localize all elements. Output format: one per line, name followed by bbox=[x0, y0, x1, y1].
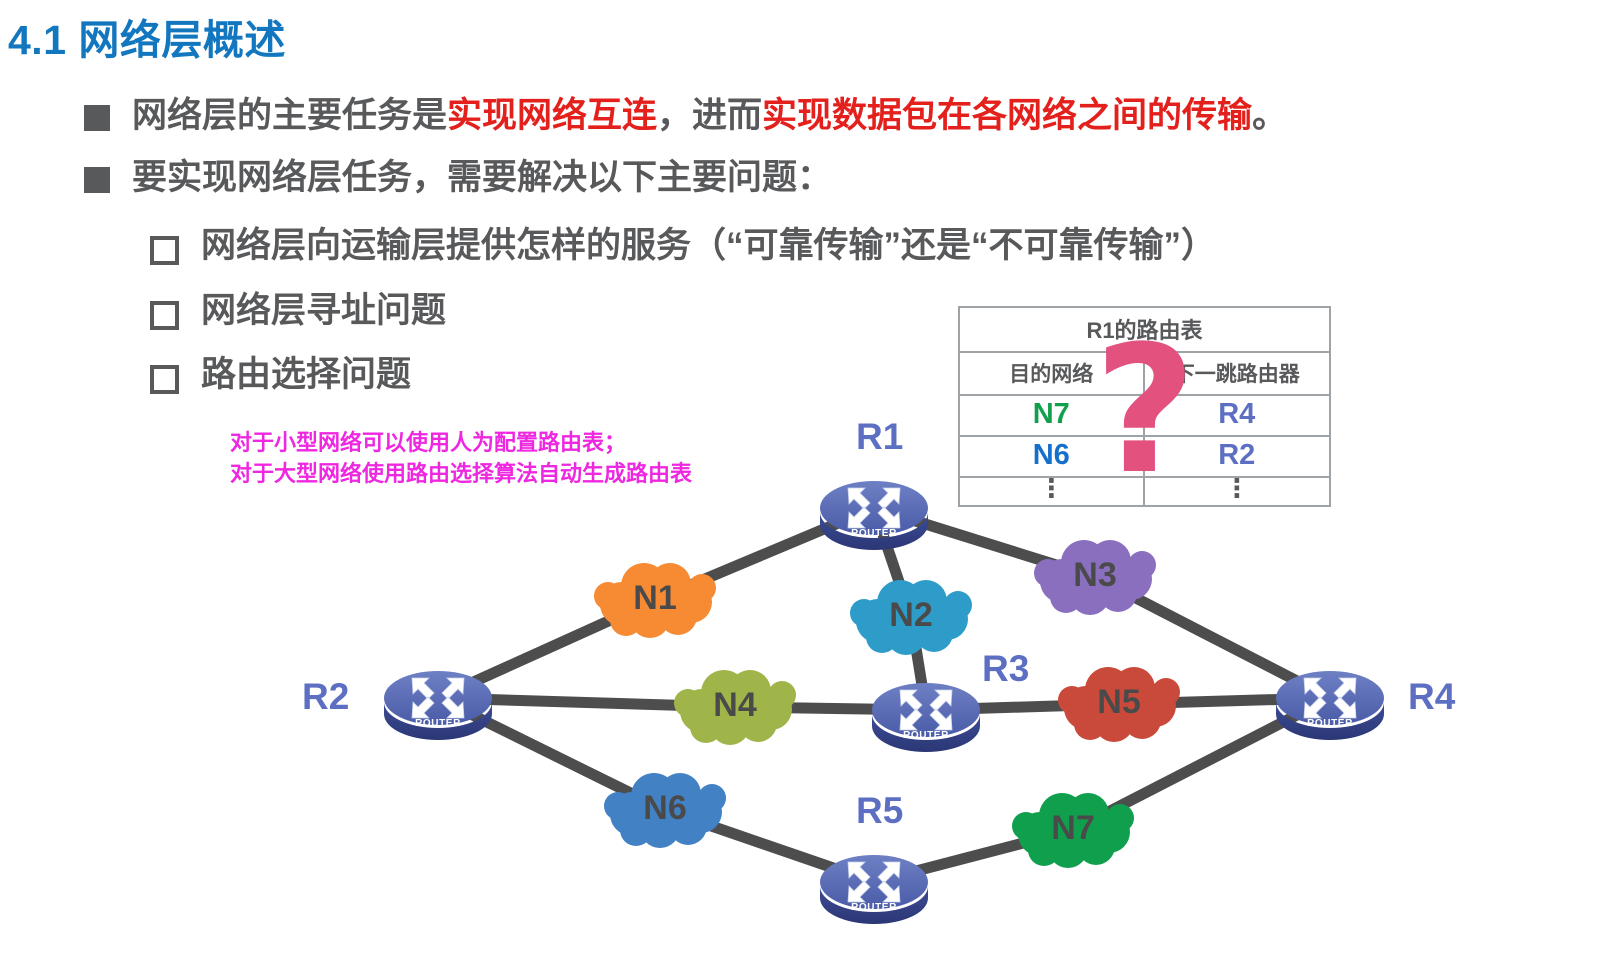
router-label-r5: R5 bbox=[856, 790, 903, 832]
bullet-1-seg-2: ，进而 bbox=[657, 96, 762, 135]
network-label-n3: N3 bbox=[1032, 535, 1158, 615]
bullet-item-4: 网络层寻址问题 bbox=[150, 291, 446, 330]
router-label-r1: R1 bbox=[856, 416, 903, 458]
hollow-square-bullet-icon bbox=[150, 236, 179, 265]
network-topology-diagram: ROUTER R1 ROUTER R2 RO bbox=[0, 400, 1611, 957]
router-icon: ROUTER bbox=[818, 468, 930, 546]
bullet-item-2: 要实现网络层任务，需要解决以下主要问题： bbox=[84, 158, 832, 197]
router-icon: ROUTER bbox=[382, 658, 494, 736]
network-label-n2: N2 bbox=[848, 575, 974, 655]
filled-square-bullet-icon bbox=[84, 167, 110, 193]
router-label-r4: R4 bbox=[1408, 676, 1455, 718]
router-node-r1: ROUTER R1 bbox=[818, 468, 930, 550]
bullet-item-3: 网络层向运输层提供怎样的服务（“可靠传输”还是“不可靠传输”） bbox=[150, 226, 1216, 265]
bullet-item-5-text: 路由选择问题 bbox=[201, 355, 411, 394]
network-cloud-n1: N1 bbox=[592, 558, 718, 638]
routing-table-title-row: R1的路由表 bbox=[960, 308, 1329, 353]
bullet-item-1: 网络层的主要任务是实现网络互连，进而实现数据包在各网络之间的传输。 bbox=[84, 96, 1287, 135]
svg-text:ROUTER: ROUTER bbox=[903, 730, 949, 741]
router-node-r4: ROUTER R4 bbox=[1274, 658, 1386, 740]
bullet-1-seg-3: 实现数据包在各网络之间的传输 bbox=[762, 96, 1252, 135]
network-cloud-n6: N6 bbox=[602, 768, 728, 848]
network-cloud-n3: N3 bbox=[1032, 535, 1158, 615]
svg-text:ROUTER: ROUTER bbox=[851, 528, 897, 539]
bullet-item-5: 路由选择问题 bbox=[150, 355, 411, 394]
svg-text:ROUTER: ROUTER bbox=[415, 718, 461, 729]
router-node-r2: ROUTER R2 bbox=[382, 658, 494, 740]
router-icon: ROUTER bbox=[870, 670, 982, 748]
network-cloud-n2: N2 bbox=[848, 575, 974, 655]
bullet-1-seg-0: 网络层的主要任务是 bbox=[132, 96, 447, 135]
hollow-square-bullet-icon bbox=[150, 365, 179, 394]
network-cloud-n7: N7 bbox=[1010, 788, 1136, 868]
svg-text:ROUTER: ROUTER bbox=[1307, 718, 1353, 729]
bullet-1-seg-1: 实现网络互连 bbox=[447, 96, 657, 135]
routing-table-col-nexthop: 下一跳路由器 bbox=[1145, 353, 1330, 394]
routing-table-header-row: 目的网络 下一跳路由器 bbox=[960, 353, 1329, 396]
routing-table-title: R1的路由表 bbox=[960, 308, 1329, 351]
network-cloud-n4: N4 bbox=[672, 665, 798, 745]
router-node-r5: ROUTER R5 bbox=[818, 842, 930, 924]
hollow-square-bullet-icon bbox=[150, 301, 179, 330]
network-label-n6: N6 bbox=[602, 768, 728, 848]
page-title: 4.1 网络层概述 bbox=[8, 6, 286, 66]
router-node-r3: ROUTER R3 bbox=[870, 670, 982, 752]
router-label-r3: R3 bbox=[982, 648, 1029, 690]
router-label-r2: R2 bbox=[302, 676, 349, 718]
router-icon: ROUTER bbox=[818, 842, 930, 920]
network-label-n1: N1 bbox=[592, 558, 718, 638]
filled-square-bullet-icon bbox=[84, 105, 110, 131]
svg-text:ROUTER: ROUTER bbox=[851, 902, 897, 913]
network-cloud-n5: N5 bbox=[1056, 662, 1182, 742]
bullet-item-2-text: 要实现网络层任务，需要解决以下主要问题： bbox=[132, 158, 832, 197]
network-label-n7: N7 bbox=[1010, 788, 1136, 868]
routing-table-col-dest: 目的网络 bbox=[960, 353, 1145, 394]
bullet-item-3-text: 网络层向运输层提供怎样的服务（“可靠传输”还是“不可靠传输”） bbox=[201, 226, 1216, 265]
network-label-n5: N5 bbox=[1056, 662, 1182, 742]
router-icon: ROUTER bbox=[1274, 658, 1386, 736]
bullet-item-4-text: 网络层寻址问题 bbox=[201, 291, 446, 330]
bullet-item-1-text: 网络层的主要任务是实现网络互连，进而实现数据包在各网络之间的传输。 bbox=[132, 96, 1287, 135]
bullet-1-seg-4: 。 bbox=[1252, 96, 1287, 135]
network-label-n4: N4 bbox=[672, 665, 798, 745]
